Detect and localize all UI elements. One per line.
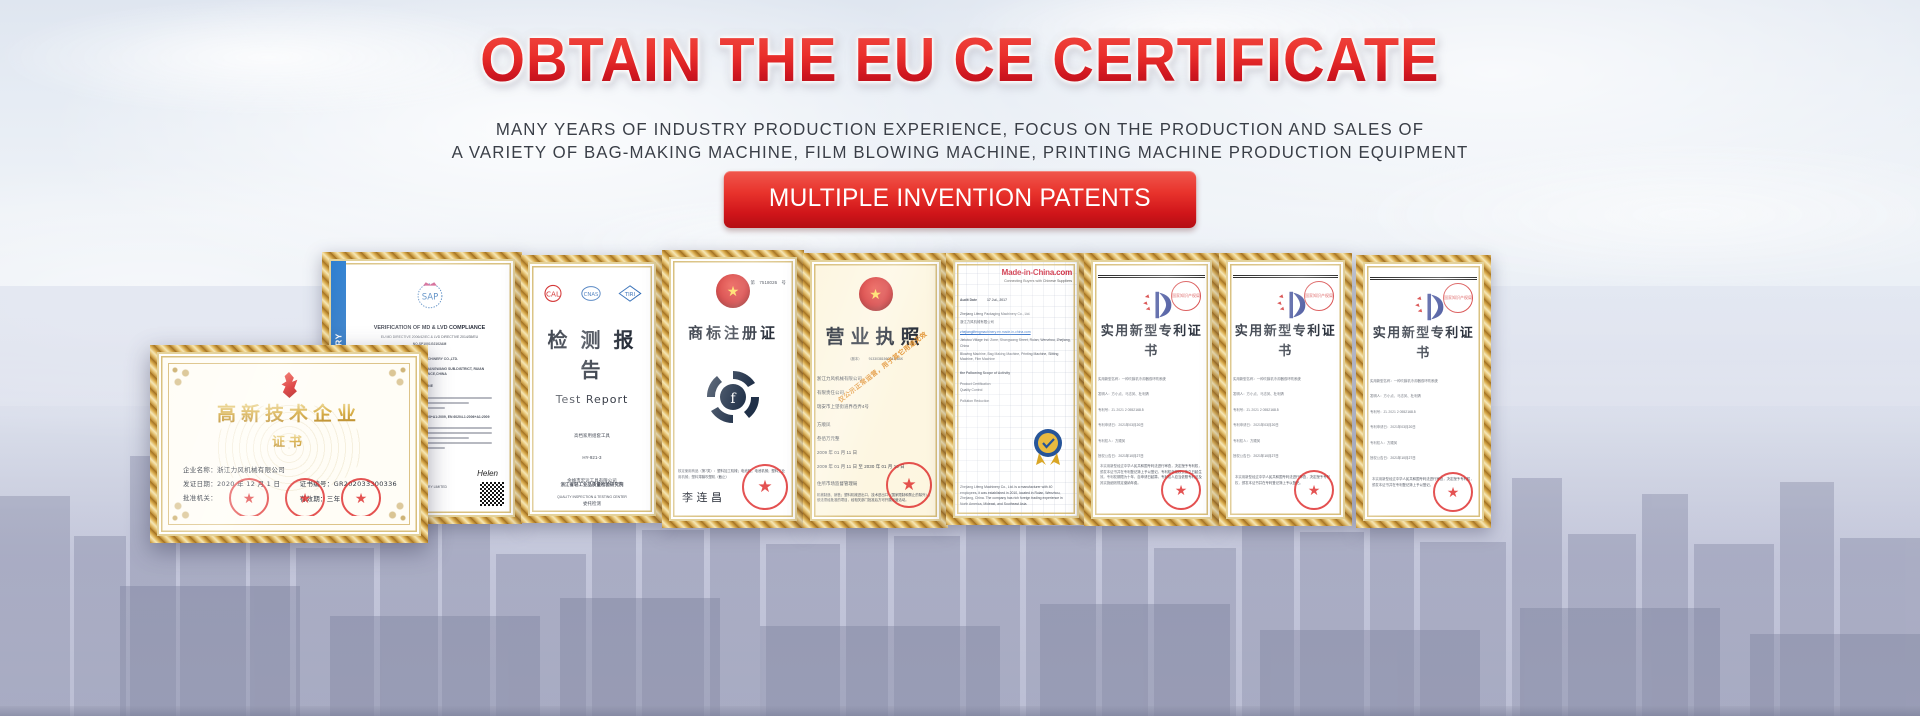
svg-text:CAL: CAL [546,290,560,299]
business-license-seal: ★ [886,462,932,508]
subtitle-block: MANY YEARS OF INDUSTRY PRODUCTION EXPERI… [38,118,1881,164]
tiri-logo-icon: TIRI [617,283,643,307]
patent-row-1-3: 专利申请日：2021年03月20日 [1098,423,1205,428]
patent-title-cn-3: 实用新型专利证书 [1370,324,1477,363]
svg-text:SAP: SAP [421,292,438,302]
patent-row-1-4: 专利权人：方顺凤 [1098,439,1205,444]
multiple-invention-patents-button[interactable]: MULTIPLE INVENTION PATENTS [724,171,1196,228]
certificate-test-report[interactable]: CAL CNAS TIRI 检 测 报 告 Test Report 高 [521,255,663,523]
high-tech-seal-1: ★ [285,478,325,516]
high-tech-title-cn: 高新技术企业 [177,400,401,429]
business-license-row-1: 有限责任公司 [817,390,934,397]
trademark-signature: 李 连 昌 [682,490,722,507]
audit-company-cn: 浙江力风机械有限公司 [960,320,1072,325]
audit-products: Blowing Machine, Bag Making Machine, Pri… [960,352,1072,363]
patent-row-2-3: 专利申请日：2021年03月20日 [1233,423,1338,428]
patent-office-stamp-2: 国家知识产权局 [1304,281,1334,311]
audit-footer: Zhejiang Lifeng Machinery Co., Ltd. is a… [960,485,1068,507]
made-in-china-logo: Made-in-China.com Connecting Buyers with… [960,267,1072,284]
subtitle-line-2: A VARIETY OF BAG-MAKING MACHINE, FILM BL… [38,141,1881,164]
patent-logo-icon [1139,290,1165,312]
patent-red-seal-2: ★ [1294,470,1334,510]
cnas-logo-icon: CNAS [578,283,604,307]
patent-row-3-5: 授权公告日：2021年10月27日 [1370,456,1477,461]
business-license-row-4: 叁佰万元整 [817,436,934,443]
certificate-business-license[interactable]: ★ 营业执照 （副本） 91330381560561264X 浙江力风机械有限公… [803,253,948,528]
certificate-gallery: TESTING LABORATORY SAP VERIFICATION OF M… [0,0,1920,716]
test-report-title-cn: 检 测 报 告 [535,325,649,385]
certificate-high-tech-enterprise[interactable]: 高新技术企业 证书 企业名称：浙江力风机械有限公司 发证日期：2020 年 12… [150,345,428,543]
made-in-china-tagline: Connecting Buyers with Chinese Suppliers [960,279,1072,284]
audit-date-value: 17 Jul., 2017 [987,298,1007,303]
svg-text:CNAS: CNAS [584,292,599,298]
patent-row-2-5: 授权公告日：2021年10月27日 [1233,454,1338,459]
patent-logo-icon [1411,292,1437,314]
high-tech-flame-logo-icon [278,372,300,398]
md-lvd-subtitle: EU MD DIRECTIVE 2006/42/EC & LVD DIRECTI… [351,335,508,340]
patent-row-1-0: 实用新型名称：一种吹膜机冷却器双环吹系统 [1098,377,1205,382]
audit-website[interactable]: zhejianglifengmachinery.en.made-in-china… [960,330,1072,335]
high-tech-subtitle-cn: 证书 [177,433,401,453]
page-title: OBTAIN THE EU CE CERTIFICATE [480,28,1439,93]
patent-red-seal-1: ★ [1161,470,1201,510]
patent-row-2-1: 发明人：方小点、马志凤、杜利清 [1233,392,1338,397]
national-emblem-icon: ★ [716,274,750,308]
high-tech-field-0: 企业名称：浙江力风机械有限公司 [183,466,401,476]
md-lvd-signature: Helen [477,468,498,480]
certificate-utility-model-patent-3[interactable]: 实用新型专利证书 国家知识产权局 实用新型名称：一种吹膜机冷却器双环吹系统 发明… [1356,255,1491,528]
patent-row-2-0: 实用新型名称：一种吹膜机冷却器双环吹系统 [1233,377,1338,382]
audit-company: Zhejiang Lifeng Packaging Machinery Co.,… [960,312,1030,316]
trademark-title-cn: 商标注册证 [676,322,790,345]
certificate-utility-model-patent-1[interactable]: 实用新型专利证书 国家知识产权局 实用新型名称：一种吹膜机冷却器双环吹系统 发明… [1084,253,1219,526]
trademark-reg-no-suffix: 号 [782,280,787,285]
audit-scope-1: Quality Control [960,388,1072,393]
test-report-row-3: 委托检测 [535,501,649,508]
patent-row-1-2: 专利号：ZL 2021 2 0552168.5 [1098,408,1205,413]
svg-text:TIRI: TIRI [624,292,636,298]
patent-row-3-1: 发明人：方小点、马志凤、杜利清 [1370,394,1477,399]
test-report-row-0: 高档家用组套工具 [535,433,649,440]
patent-row-3-3: 专利申请日：2021年03月20日 [1370,425,1477,430]
business-license-row-2: 瑞安市上望街道界岙弄4号 [817,404,934,411]
subtitle-line-1: MANY YEARS OF INDUSTRY PRODUCTION EXPERI… [38,118,1881,141]
test-report-row-1: HY-921-3 [535,455,649,462]
sap-logo-icon: SAP [413,278,447,312]
patent-title-cn-1: 实用新型专利证书 [1098,322,1205,361]
audit-badge-icon [1030,427,1066,467]
trademark-office-seal: ★ [742,464,788,510]
trademark-reg-no: 7518026 [759,280,777,285]
patent-office-stamp-3: 国家知识产权局 [1443,283,1473,313]
patent-row-3-0: 实用新型名称：一种吹膜机冷却器双环吹系统 [1370,379,1477,384]
md-lvd-title: VERIFICATION OF MD & LVD COMPLIANCE [351,324,508,332]
audit-scope-2: Pollution Reduction [960,399,1072,404]
certificate-banner: TESTING LABORATORY SAP VERIFICATION OF M… [0,0,1920,716]
patent-row-1-5: 授权公告日：2021年10月27日 [1098,454,1205,459]
certificate-made-in-china-audit[interactable]: Made-in-China.com Connecting Buyers with… [946,253,1086,525]
audit-scope-title: the Following Scope of Activity [960,371,1072,376]
national-emblem-icon: ★ [859,277,893,311]
patent-row-2-4: 专利权人：方顺凤 [1233,439,1338,444]
cal-logo-icon: CAL [541,283,565,307]
audit-date-label: Audit Date [960,298,977,303]
qr-code [480,482,504,506]
audit-address: Jielutou Village Ind. Zone, Shangwang St… [960,338,1072,349]
test-report-title-en: Test Report [535,392,649,409]
patent-row-3-2: 专利号：ZL 2021 2 0552168.5 [1370,410,1477,415]
patent-red-seal-3: ★ [1433,472,1473,512]
business-license-row-5: 2009 年 01 月 11 日 [817,450,934,457]
trademark-reg-no-label: 第 [751,280,756,285]
business-license-title-note: （副本） [848,357,862,361]
made-in-china-logo-text: Made-in-China.com [1002,268,1072,277]
trademark-gear-logo-icon: f [703,367,763,427]
patent-row-3-4: 专利权人：方顺凤 [1370,441,1477,446]
headline-container: OBTAIN THE EU CE CERTIFICATE [0,28,1920,93]
patent-title-cn-2: 实用新型专利证书 [1233,322,1338,361]
certificate-utility-model-patent-2[interactable]: 实用新型专利证书 国家知识产权局 实用新型名称：一种吹膜机冷却器双环吹系统 发明… [1219,253,1352,526]
certificate-trademark-registration[interactable]: ★ 第 7518026 号 商标注册证 [662,250,804,528]
patent-office-stamp-1: 国家知识产权局 [1171,281,1201,311]
high-tech-seal-2: ★ [341,478,381,516]
business-license-row-3: 方顺凤 [817,422,934,429]
test-report-issuer: 浙江省轻工业品质量检验研究院 [535,482,649,489]
test-report-footer-en: QUALITY INSPECTION & TESTING CENTER [535,495,649,500]
patent-row-2-2: 专利号：ZL 2021 2 0552168.5 [1233,408,1338,413]
patent-logo-icon [1273,290,1299,312]
high-tech-seal-0: ★ [229,478,269,516]
patent-row-1-1: 发明人：方小点、马志凤、杜利清 [1098,392,1205,397]
audit-intro: Zhejiang Lifeng Packaging Machinery Co.,… [960,312,1072,317]
cta-container: MULTIPLE INVENTION PATENTS [0,171,1920,228]
